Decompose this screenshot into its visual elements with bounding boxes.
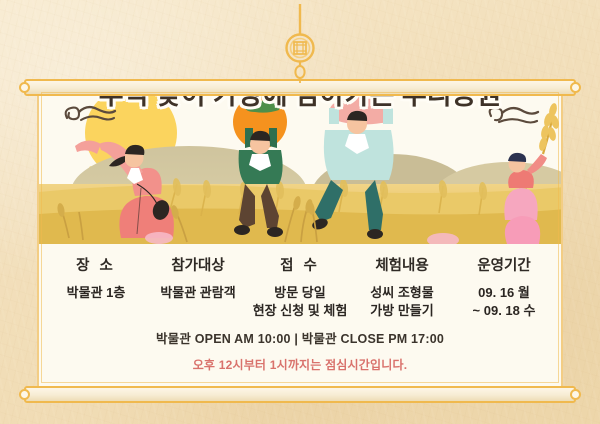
column-line: 방문 당일 [249,284,351,302]
info-column-place: 장 소 박물관 1층 [45,254,147,321]
poster-root: 2024년 한국족보박물관 추석 맞이 가방에 담아가는 뿌리공원 장 소 박물… [0,0,600,424]
column-heading: 운영기간 [453,254,555,275]
opening-hours: 박물관 OPEN AM 10:00 | 박물관 CLOSE PM 17:00 [39,328,561,347]
column-body: 09. 16 월 ~ 09. 18 수 [453,284,555,321]
rod-cap-left-icon [19,82,30,93]
illustration-band [39,88,561,244]
cloud-swirl-icon [485,100,541,135]
rod-cap-right-icon [570,389,581,400]
rod-cap-left-icon [19,389,30,400]
column-line: 09. 16 월 [453,284,555,302]
column-heading: 참가대상 [147,254,249,275]
cloud-swirl-icon [61,98,117,133]
info-table: 장 소 박물관 1층 참가대상 박물관 관람객 접 수 방문 당일 현장 신청 [39,244,561,321]
column-line: 박물관 관람객 [147,284,249,302]
scroll-rod-bottom [24,386,576,403]
column-body: 박물관 1층 [45,284,147,302]
info-column-registration: 접 수 방문 당일 현장 신청 및 체험 [249,254,351,321]
column-line: 성씨 조형물 [351,284,453,302]
info-panel: 장 소 박물관 1층 참가대상 박물관 관람객 접 수 방문 당일 현장 신청 [39,244,561,387]
info-column-activity: 체험내용 성씨 조형물 가방 만들기 [351,254,453,321]
korean-knot-icon [273,4,327,95]
column-line: 가방 만들기 [351,302,453,320]
column-heading: 체험내용 [351,254,453,275]
column-line: ~ 09. 18 수 [453,302,555,320]
column-body: 성씨 조형물 가방 만들기 [351,284,453,321]
column-body: 박물관 관람객 [147,284,249,302]
column-heading: 접 수 [249,254,351,275]
rod-cap-right-icon [570,82,581,93]
column-body: 방문 당일 현장 신청 및 체험 [249,284,351,321]
lunch-notice: 오후 12시부터 1시까지는 점심시간입니다. [39,356,561,373]
column-heading: 장 소 [45,254,147,275]
column-line: 현장 신청 및 체험 [249,302,351,320]
info-column-period: 운영기간 09. 16 월 ~ 09. 18 수 [453,254,555,321]
hours-block: 박물관 OPEN AM 10:00 | 박물관 CLOSE PM 17:00 오… [39,328,561,373]
info-column-audience: 참가대상 박물관 관람객 [147,254,249,321]
column-line: 박물관 1층 [45,284,147,302]
poster-page: 2024년 한국족보박물관 추석 맞이 가방에 담아가는 뿌리공원 장 소 박물… [37,88,563,387]
